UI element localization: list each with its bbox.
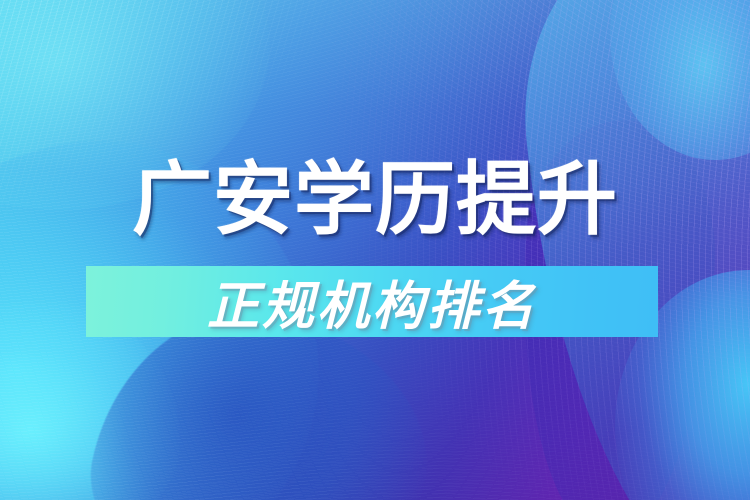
promo-banner: 广安学历提升 正规机构排名 [0,0,750,500]
subtitle-text: 正规机构排名 [86,266,658,337]
banner-content: 广安学历提升 正规机构排名 [0,0,750,500]
main-title: 广安学历提升 [0,152,750,248]
